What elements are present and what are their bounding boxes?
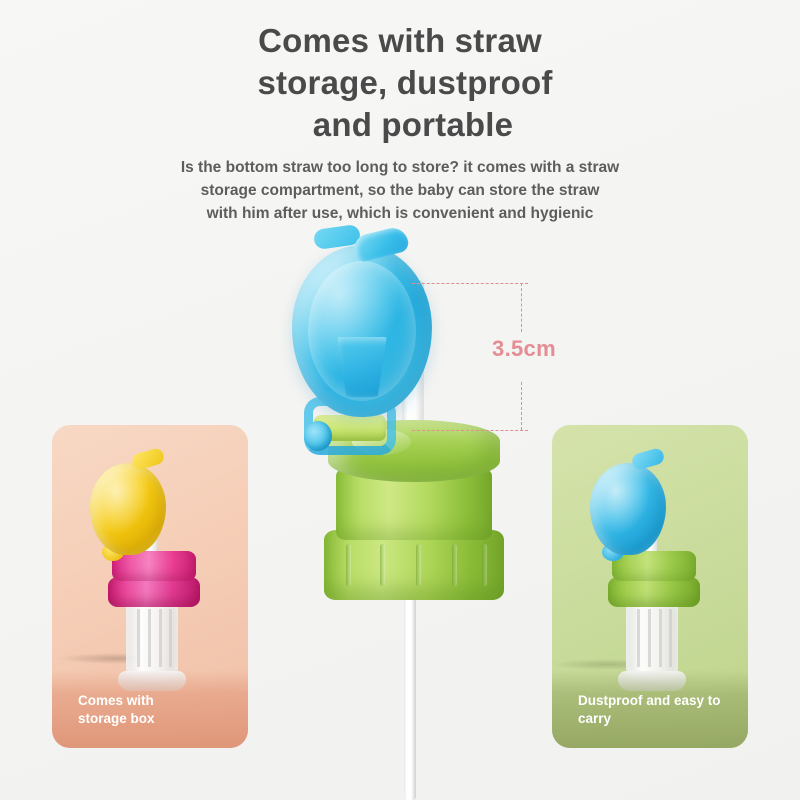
feature-card-dustproof[interactable]: Dustproof and easy to carry [552, 425, 748, 748]
caption-line-2: storage box [78, 710, 248, 728]
mini-product-dustproof [580, 447, 720, 687]
description-text: Is the bottom straw too long to store? i… [130, 157, 670, 226]
mini-product-storage-box [80, 447, 220, 687]
page-title: Comes with straw storage, dustproof and … [140, 20, 660, 147]
description-line-1: Is the bottom straw too long to store? i… [130, 157, 670, 180]
dimension-line-vertical-upper [521, 283, 522, 332]
dimension-label: 3.5cm [478, 336, 570, 362]
mini-flip-lid [90, 463, 166, 555]
dimension-line-vertical-lower [521, 382, 522, 430]
headline-line-3: and portable [166, 104, 660, 146]
caption-line-1: Comes with [78, 692, 248, 710]
mini-cap-upper-ring [612, 551, 696, 581]
mini-lid-thumb-tab [130, 447, 165, 471]
caption-line-1: Dustproof and easy to [578, 692, 748, 710]
feature-card-storage-box[interactable]: Comes with storage box [52, 425, 248, 748]
headline-line-1: Comes with straw [140, 20, 660, 62]
mini-cap-lower-ring [608, 577, 700, 607]
headline-line-2: storage, dustproof [150, 62, 660, 104]
dimension-line-top [412, 283, 528, 284]
hero-product-image [270, 225, 550, 800]
description-line-2: storage compartment, so the baby can sto… [130, 180, 670, 203]
card-caption-storage-box: Comes with storage box [52, 670, 248, 748]
lid-thumb-tab [352, 225, 411, 263]
mini-flip-lid [590, 463, 666, 555]
cap-bottom-ring [324, 530, 504, 600]
mini-cap-lower-ring [108, 577, 200, 607]
mini-cap-upper-ring [112, 551, 196, 581]
caption-line-2: carry [578, 710, 748, 728]
card-caption-dustproof: Dustproof and easy to carry [552, 670, 748, 748]
dimension-line-bottom [412, 430, 528, 431]
hinge-knob-icon [304, 421, 332, 451]
description-line-3: with him after use, which is convenient … [130, 203, 670, 226]
mini-lid-thumb-tab [630, 447, 665, 471]
flip-lid [292, 245, 432, 417]
promo-page: Comes with straw storage, dustproof and … [0, 0, 800, 800]
